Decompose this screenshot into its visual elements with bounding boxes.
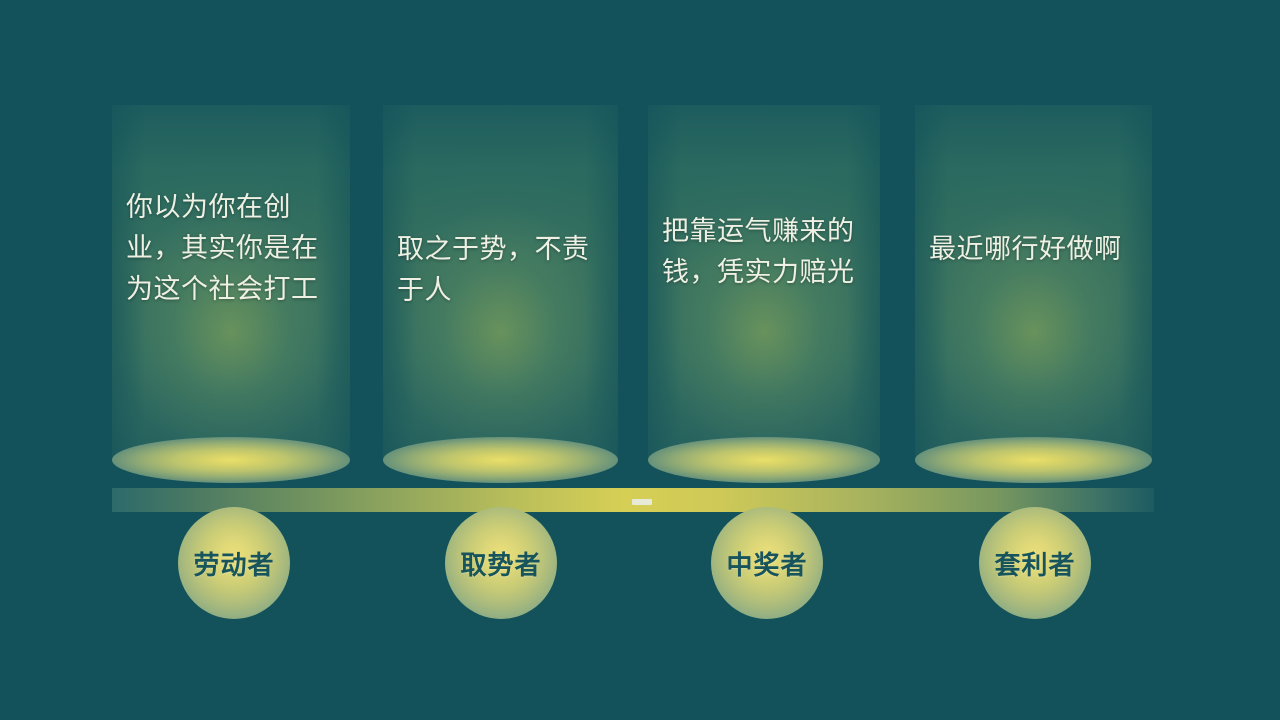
pillar-card-4[interactable]: 最近哪行好做啊 bbox=[915, 105, 1152, 460]
pillar-background-4 bbox=[915, 105, 1152, 460]
role-label-3: 中奖者 bbox=[726, 545, 807, 582]
pillar-card-2[interactable]: 取之于势，不责于人 bbox=[383, 105, 618, 460]
role-circle-2[interactable]: 取势者 bbox=[445, 507, 557, 619]
role-label-1: 劳动者 bbox=[193, 545, 274, 582]
pillar-card-3[interactable]: 把靠运气赚来的钱，凭实力赔光 bbox=[648, 105, 880, 460]
role-label-4: 套利者 bbox=[994, 545, 1075, 582]
role-circle-1[interactable]: 劳动者 bbox=[178, 507, 290, 619]
pillar-text-2: 取之于势，不责于人 bbox=[397, 229, 606, 311]
pillar-text-1: 你以为你在创业，其实你是在为这个社会打工 bbox=[126, 187, 338, 310]
pillar-text-4: 最近哪行好做啊 bbox=[929, 229, 1140, 270]
role-circle-4[interactable]: 套利者 bbox=[979, 507, 1091, 619]
pillar-text-3: 把靠运气赚来的钱，凭实力赔光 bbox=[662, 211, 868, 293]
beam-center-marker bbox=[632, 499, 652, 505]
pillar-card-1[interactable]: 你以为你在创业，其实你是在为这个社会打工 bbox=[112, 105, 350, 460]
role-circle-3[interactable]: 中奖者 bbox=[711, 507, 823, 619]
role-label-2: 取势者 bbox=[460, 545, 541, 582]
slide-canvas: 你以为你在创业，其实你是在为这个社会打工 取之于势，不责于人 把靠运气赚来的钱，… bbox=[0, 0, 1280, 720]
